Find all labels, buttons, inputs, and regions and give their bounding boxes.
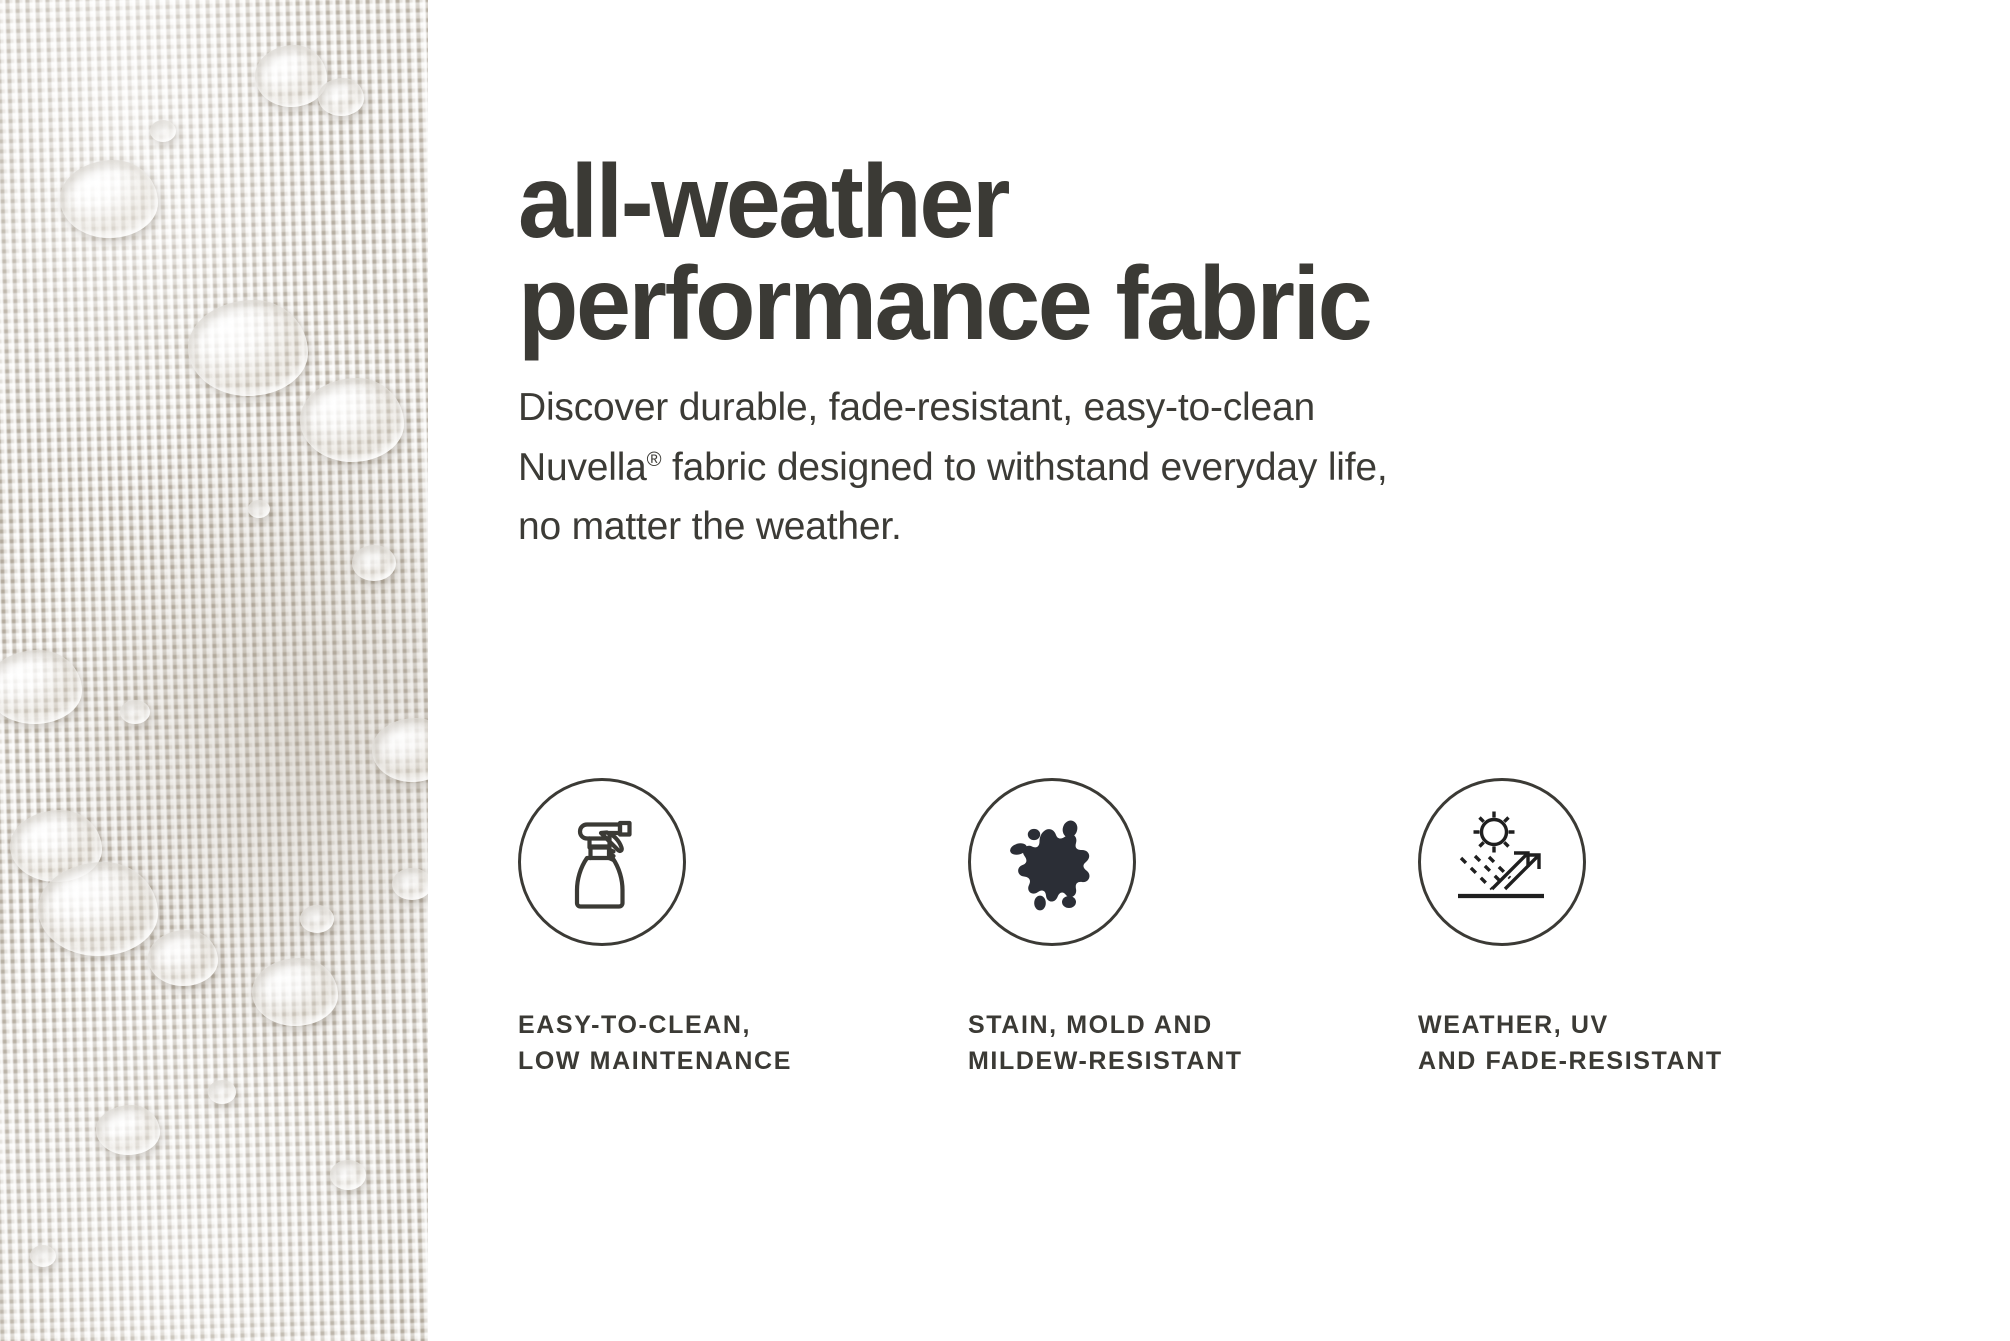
water-droplet: [248, 500, 270, 518]
water-droplet: [300, 905, 334, 933]
water-droplet: [392, 868, 428, 900]
sun-uv-reflect-icon: [1418, 778, 1586, 946]
water-droplet: [188, 300, 308, 396]
fabric-water-beading-photo: [0, 0, 428, 1341]
water-droplet: [208, 1080, 236, 1104]
feature-label-line-1: STAIN, MOLD AND: [968, 1008, 1320, 1044]
feature-label: EASY-TO-CLEAN, LOW MAINTENANCE: [518, 1008, 870, 1079]
water-droplet: [96, 1105, 160, 1155]
water-droplet: [38, 862, 158, 956]
subcopy-line-1: Discover durable, fade-resistant, easy-t…: [518, 378, 1478, 438]
water-droplet: [148, 930, 218, 986]
registered-trademark-mark: ®: [647, 449, 662, 471]
spray-bottle-icon: [518, 778, 686, 946]
subcopy-line-2: Nuvella® fabric designed to withstand ev…: [518, 438, 1478, 498]
water-droplet: [150, 120, 176, 142]
water-droplet: [352, 545, 396, 581]
feature-list: EASY-TO-CLEAN, LOW MAINTENANCE: [518, 778, 1938, 1079]
headline-line-2: performance fabric: [518, 254, 1924, 356]
subcopy-line-3: no matter the weather.: [518, 497, 1478, 557]
feature-label-line-2: LOW MAINTENANCE: [518, 1044, 870, 1080]
headline-line-1: all-weather: [518, 152, 1924, 254]
feature-label: WEATHER, UV AND FADE-RESISTANT: [1418, 1008, 1770, 1079]
page-title: all-weather performance fabric: [518, 152, 1924, 356]
content-panel: all-weather performance fabric Discover …: [428, 0, 2010, 1341]
water-droplet: [120, 700, 150, 724]
subcopy-line-2-rest: fabric designed to withstand everyday li…: [661, 446, 1387, 489]
feature-label-line-2: AND FADE-RESISTANT: [1418, 1044, 1770, 1080]
all-weather-fabric-banner: all-weather performance fabric Discover …: [0, 0, 2010, 1341]
water-droplet: [300, 378, 404, 462]
water-droplet: [330, 1160, 366, 1190]
feature-item-stain-mold-mildew: STAIN, MOLD AND MILDEW-RESISTANT: [968, 778, 1320, 1079]
subheadline-copy: Discover durable, fade-resistant, easy-t…: [518, 378, 1478, 557]
ink-splat-icon: [968, 778, 1136, 946]
brand-name: Nuvella: [518, 446, 647, 489]
water-droplet: [252, 958, 338, 1026]
feature-label-line-1: EASY-TO-CLEAN,: [518, 1008, 870, 1044]
water-droplet: [30, 1245, 56, 1267]
feature-item-weather-uv-fade: WEATHER, UV AND FADE-RESISTANT: [1418, 778, 1770, 1079]
feature-label: STAIN, MOLD AND MILDEW-RESISTANT: [968, 1008, 1320, 1079]
water-droplet: [60, 160, 158, 238]
water-droplet: [318, 78, 364, 116]
water-droplet: [255, 45, 327, 107]
feature-label-line-2: MILDEW-RESISTANT: [968, 1044, 1320, 1080]
feature-item-easy-to-clean: EASY-TO-CLEAN, LOW MAINTENANCE: [518, 778, 870, 1079]
feature-label-line-1: WEATHER, UV: [1418, 1008, 1770, 1044]
